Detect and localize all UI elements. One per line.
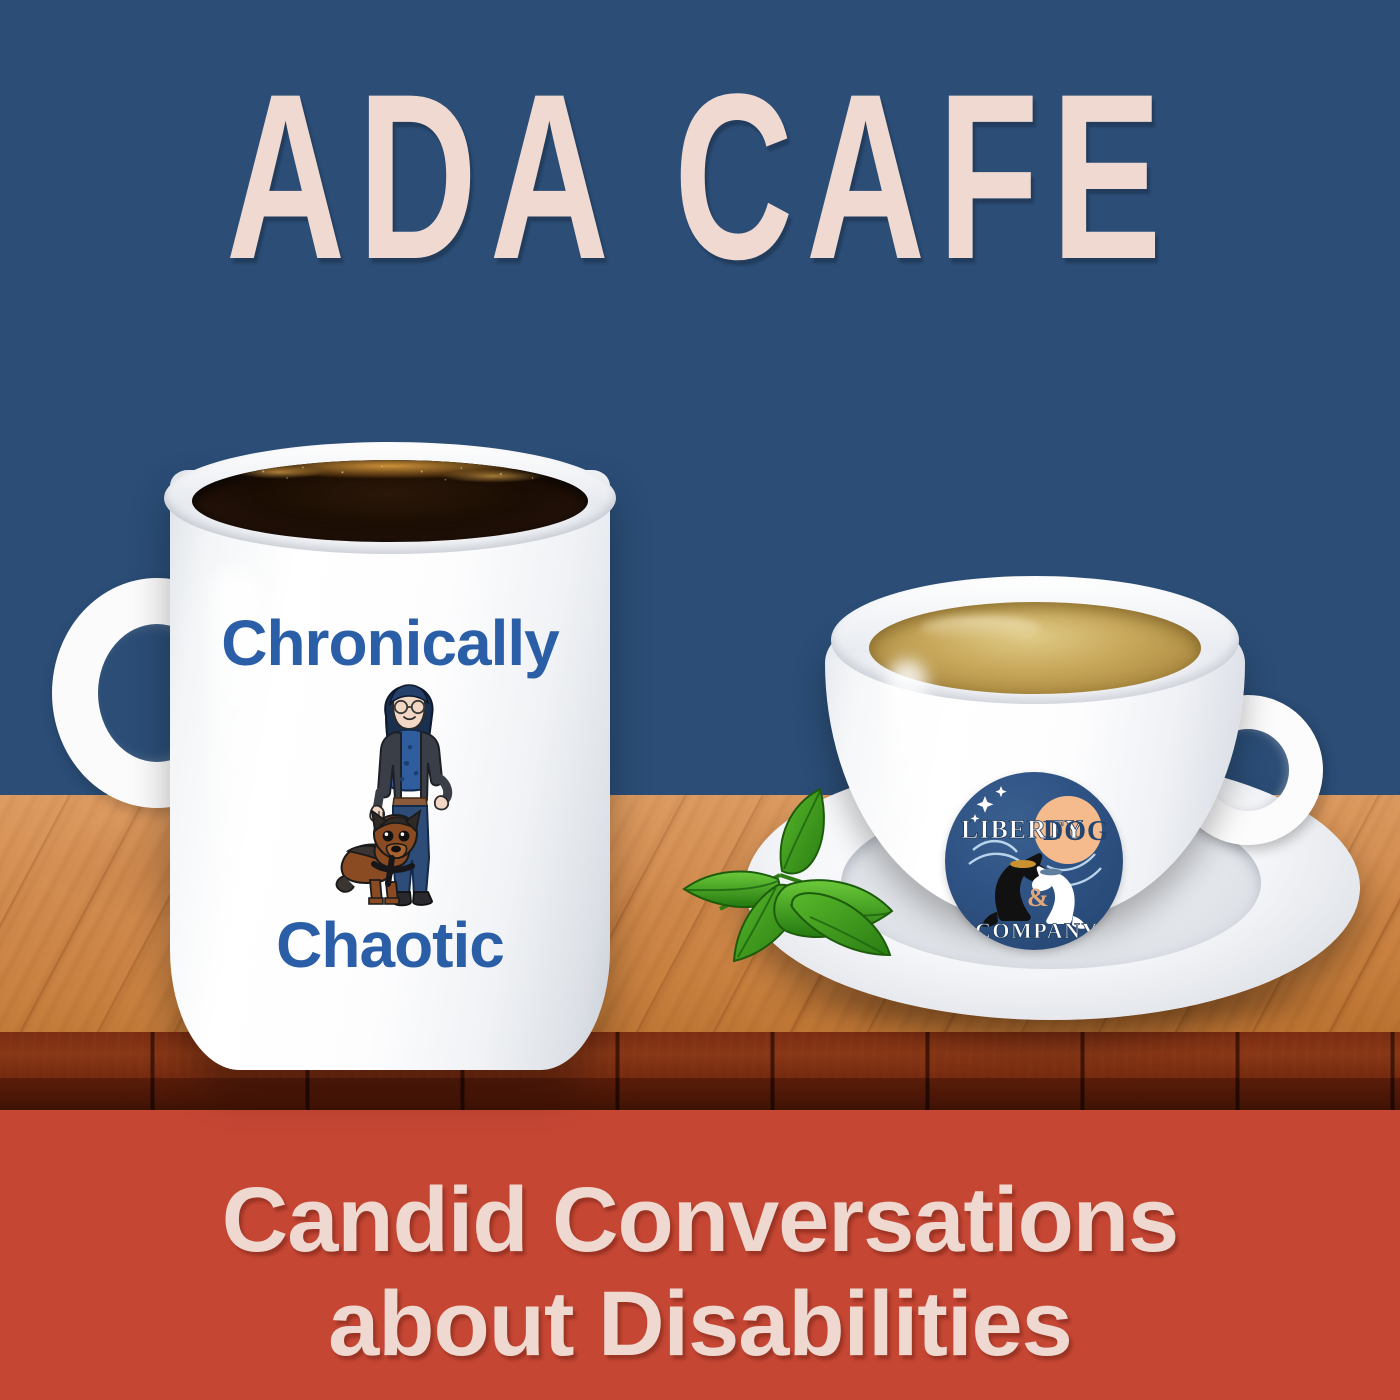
tea-cup-highlight bbox=[887, 660, 927, 860]
subtitle-line-1: Candid Conversations bbox=[0, 1168, 1400, 1272]
mug-text-chronically: Chronically bbox=[170, 606, 610, 680]
show-subtitle: Candid Conversations about Disabilities bbox=[0, 1168, 1400, 1376]
logo-text-company: COMPANY bbox=[975, 918, 1099, 943]
show-title: ADA CAFE bbox=[210, 70, 1190, 284]
logo-text-ampersand: & bbox=[1027, 883, 1049, 912]
coffee-crema-foam bbox=[192, 460, 588, 542]
liberty-dog-company-logo: LIBERTY DOG & COMPANY bbox=[945, 772, 1123, 950]
black-coffee-surface bbox=[192, 460, 588, 542]
coffee-mug: Chronically bbox=[60, 418, 640, 1118]
mug-text-chaotic: Chaotic bbox=[170, 908, 610, 982]
person-and-service-dog-illustration bbox=[334, 680, 484, 910]
podcast-cover-artwork: ADA CAFE Chronically bbox=[0, 0, 1400, 1400]
subtitle-line-2: about Disabilities bbox=[0, 1272, 1400, 1376]
logo-text-dog: DOG bbox=[1043, 816, 1110, 847]
